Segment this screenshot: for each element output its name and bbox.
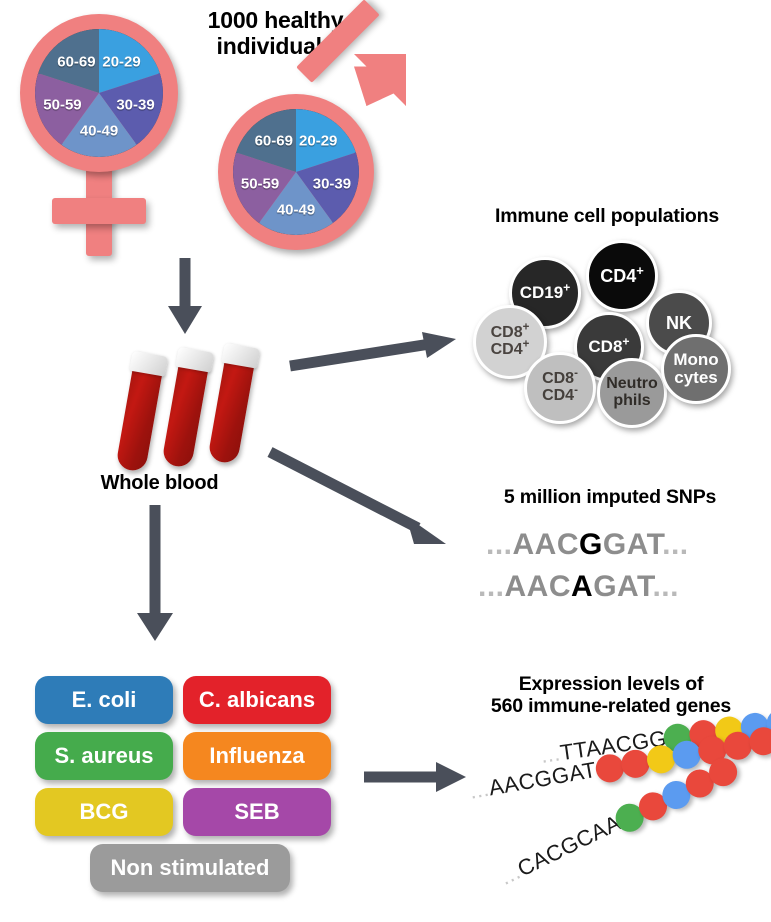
- gene-bead: [662, 722, 694, 754]
- snp-suffix-ellipsis: ...: [652, 570, 679, 603]
- gene-bead: [747, 725, 771, 757]
- sequence-ellipsis: ...: [496, 859, 525, 890]
- gene-strand-sequence: ...CACGCAA: [496, 810, 625, 891]
- whole-blood-tubes: [108, 342, 258, 472]
- stimulus-label: BCG: [80, 799, 129, 825]
- gene-bead: [658, 776, 695, 813]
- gene-bead: [611, 799, 648, 836]
- pie-slice-label-60-69: 60-69: [255, 133, 293, 150]
- gene-bead: [594, 752, 626, 784]
- arrow-stimuli-to-genes: [362, 756, 472, 798]
- snp-sequence-row: ...AACAGAT...: [478, 570, 679, 604]
- imputed-snps-title: 5 million imputed SNPs: [460, 487, 760, 509]
- snp-variant-base: A: [571, 570, 593, 603]
- stimulus-label: S. aureus: [54, 743, 153, 769]
- snp-prefix-ellipsis: ...: [478, 570, 505, 603]
- stimulus-label: Influenza: [209, 743, 304, 769]
- gene-bead: [645, 743, 677, 775]
- immune-cell-Monocytes[interactable]: Monocytes: [661, 334, 731, 404]
- gene-bead: [696, 734, 728, 766]
- immune-cell-CD8-CD4-[interactable]: CD8-CD4-: [524, 352, 596, 424]
- stimulus-bcg[interactable]: BCG: [35, 788, 173, 836]
- arrow-blood-to-stimuli: [120, 505, 190, 645]
- pie-slice-label-40-49: 40-49: [277, 201, 315, 218]
- gene-bead: [688, 718, 720, 750]
- stimulus-label: SEB: [234, 799, 279, 825]
- immune-cell-populations-title: Immune cell populations: [452, 206, 762, 228]
- snp-prefix-ellipsis: ...: [486, 528, 513, 561]
- snp-sequence-row: ...AACGGAT...: [486, 528, 689, 562]
- female-symbol-crossbar: [52, 198, 146, 224]
- immune-cell-label: CD4+: [600, 267, 644, 286]
- stimulus-label: C. albicans: [199, 687, 315, 713]
- immune-cell-Neutrophils[interactable]: Neutrophils: [597, 358, 667, 428]
- immune-cell-CD4+[interactable]: CD4+: [586, 240, 658, 312]
- pie-slice-label-20-29: 20-29: [299, 133, 337, 150]
- stimulus-c-albicans[interactable]: C. albicans: [183, 676, 331, 724]
- blood-tube: [160, 347, 211, 474]
- gene-bead: [670, 739, 702, 771]
- whole-blood-label: Whole blood: [62, 472, 257, 494]
- snp-sequence-block: ...AACGGAT......AACAGAT...: [478, 528, 758, 618]
- age-distribution-pie-male: 20-2930-3940-4950-5960-69: [233, 109, 359, 235]
- stimulus-non-stimulated[interactable]: Non stimulated: [90, 844, 290, 892]
- stimulus-e-coli[interactable]: E. coli: [35, 676, 173, 724]
- immune-cell-label: CD8+: [588, 338, 629, 356]
- stimulus-s-aureus[interactable]: S. aureus: [35, 732, 173, 780]
- gene-bead: [722, 730, 754, 762]
- immune-cell-label: CD8+CD4+: [491, 325, 530, 358]
- immune-cell-label: NK: [666, 314, 692, 333]
- female-symbol-with-age-pie: 20-2930-3940-4950-5960-69: [12, 12, 192, 252]
- immune-cell-label: CD19+: [520, 284, 571, 302]
- pie-slice-label-50-59: 50-59: [43, 96, 81, 113]
- stimulus-label: E. coli: [72, 687, 137, 713]
- pie-slice-label-30-39: 30-39: [313, 175, 351, 192]
- tube-body: [161, 361, 209, 469]
- immune-cell-label: CD8-CD4-: [542, 371, 578, 404]
- snp-right-bases: GAT: [603, 528, 662, 561]
- male-symbol-with-age-pie: 20-2930-3940-4950-5960-69: [196, 48, 426, 258]
- gene-expression-title: Expression levels of560 immune-related g…: [455, 674, 767, 718]
- pie-slice-label-50-59: 50-59: [241, 175, 279, 192]
- snp-left-bases: AAC: [505, 570, 572, 603]
- male-symbol-arrowhead: [354, 54, 406, 106]
- gene-bead: [619, 748, 651, 780]
- tube-body: [115, 365, 163, 473]
- pie-slice-label-40-49: 40-49: [80, 123, 118, 140]
- tube-body: [207, 357, 255, 465]
- gene-bead: [704, 753, 741, 790]
- snp-right-bases: GAT: [593, 570, 652, 603]
- pie-slice-label-60-69: 60-69: [57, 53, 95, 70]
- pie-slice-label-30-39: 30-39: [116, 96, 154, 113]
- snp-left-bases: AAC: [513, 528, 580, 561]
- arrow-blood-to-immune-cells: [288, 328, 460, 376]
- pie-slice-label-20-29: 20-29: [102, 53, 140, 70]
- figure-canvas: 1000 healthyindividuals 20-2930-3940-495…: [0, 0, 771, 922]
- age-distribution-pie-female: 20-2930-3940-4950-5960-69: [35, 29, 163, 157]
- snp-variant-base: G: [579, 528, 603, 561]
- gene-strand-sequence: ...AACGGAT: [468, 757, 599, 805]
- blood-tube: [206, 343, 257, 470]
- immune-cell-label: Neutrophils: [606, 376, 658, 409]
- gene-bead: [681, 765, 718, 802]
- gene-bead: [713, 715, 745, 747]
- stimulus-seb[interactable]: SEB: [183, 788, 331, 836]
- snp-suffix-ellipsis: ...: [662, 528, 689, 561]
- arrow-blood-to-snps: [268, 448, 456, 552]
- gene-bead: [634, 788, 671, 825]
- arrow-cohort-to-blood: [150, 258, 220, 338]
- gene-strand-sequence: ...TTAACGG: [539, 725, 668, 768]
- immune-cell-label: Monocytes: [673, 351, 718, 386]
- blood-tube: [114, 351, 165, 478]
- stimulus-influenza[interactable]: Influenza: [183, 732, 331, 780]
- stimulus-label: Non stimulated: [111, 855, 270, 881]
- sequence-ellipsis: ...: [539, 740, 562, 767]
